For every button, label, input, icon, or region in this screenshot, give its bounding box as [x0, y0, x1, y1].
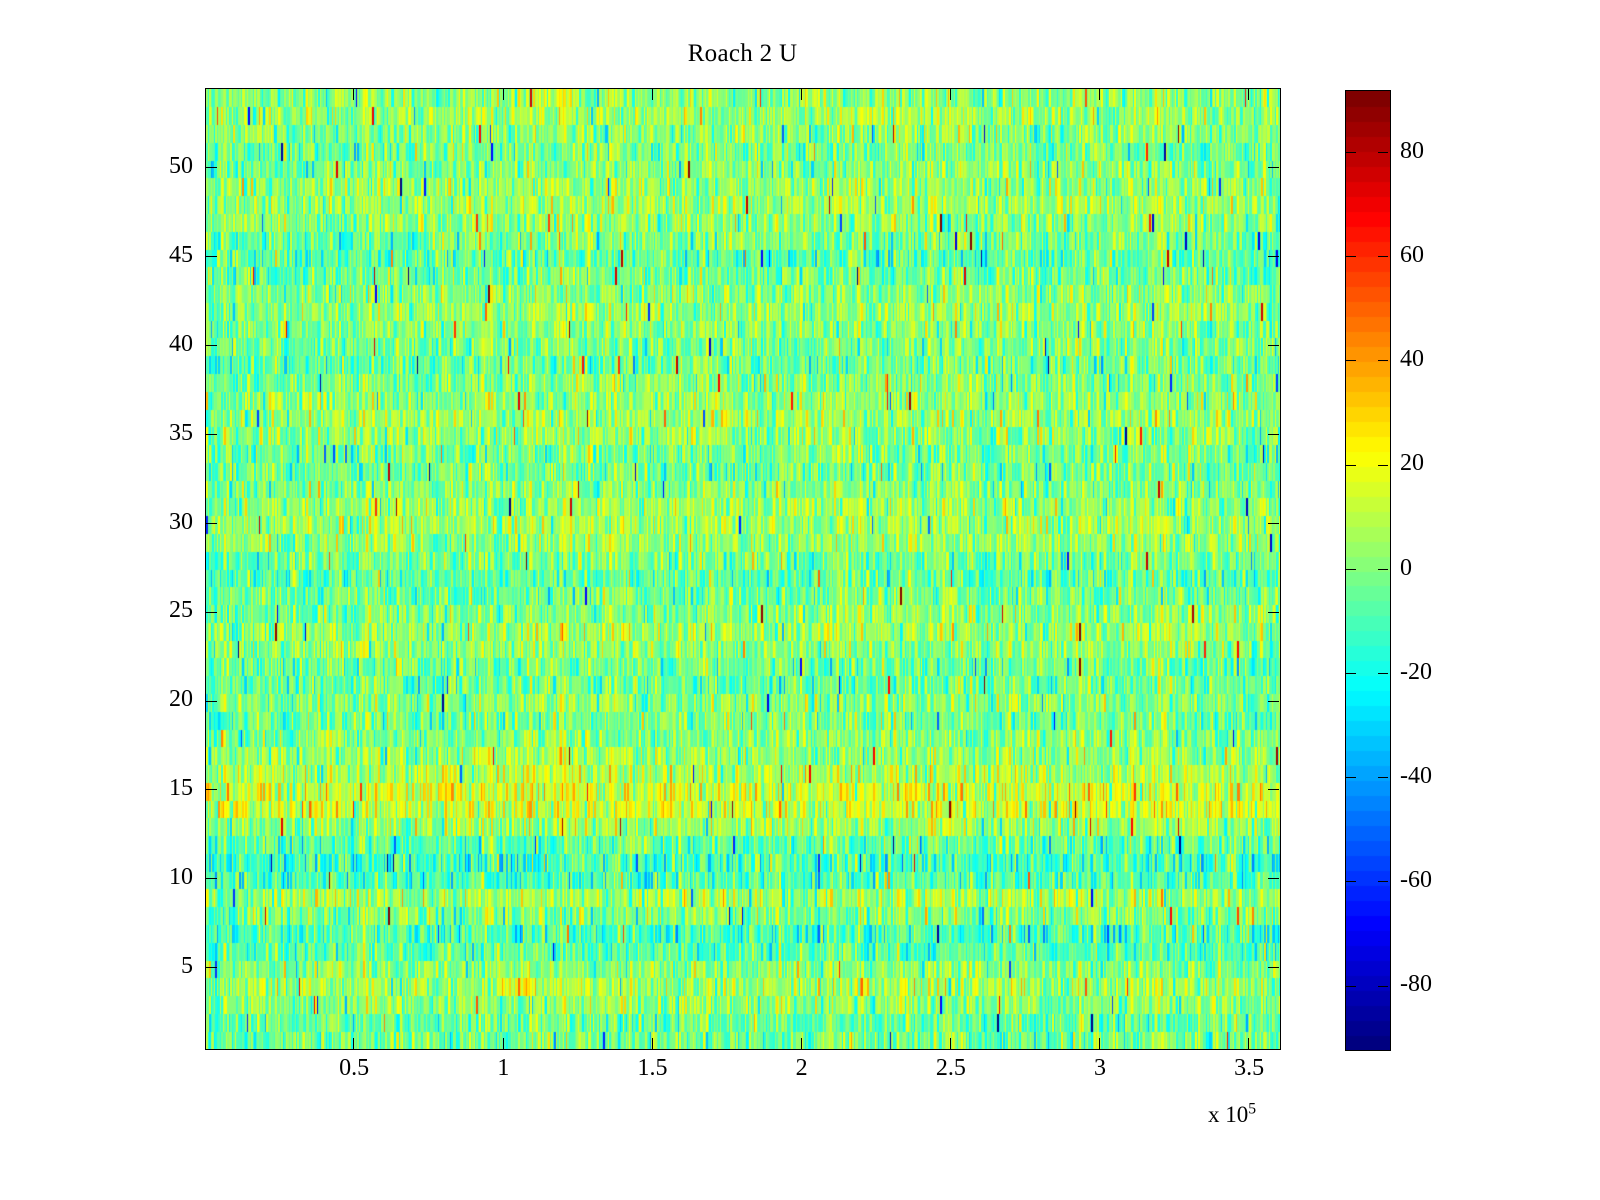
- colorbar-tick-mark: [1346, 569, 1356, 570]
- y-tick-mark: [1268, 167, 1279, 168]
- colorbar-tick-mark: [1378, 465, 1388, 466]
- x-tick-label: 2: [742, 1056, 862, 1080]
- y-tick-mark: [1268, 345, 1279, 346]
- colorbar-tick-mark: [1346, 777, 1356, 778]
- x-tick-mark: [1099, 1038, 1100, 1049]
- x-tick-mark: [801, 1038, 802, 1049]
- colorbar-tick-label: -40: [1400, 764, 1432, 788]
- x-tick-mark: [503, 1038, 504, 1049]
- colorbar-tick-mark: [1346, 360, 1356, 361]
- colorbar-tick-label: -20: [1400, 660, 1432, 684]
- x-tick-mark: [652, 1038, 653, 1049]
- y-tick-mark: [1268, 612, 1279, 613]
- y-tick-mark: [206, 434, 217, 435]
- colorbar-tick-mark: [1346, 256, 1356, 257]
- x-exponent-power: 5: [1248, 1100, 1256, 1117]
- x-tick-label: 3: [1040, 1056, 1160, 1080]
- y-tick-label: 15: [169, 776, 193, 800]
- x-tick-mark: [1248, 89, 1249, 100]
- x-tick-mark: [801, 89, 802, 100]
- matlab-figure: Roach 2 U 5101520253035404550 0.511.522.…: [0, 0, 1600, 1200]
- x-tick-label: 1.5: [593, 1056, 713, 1080]
- page-title: Roach 2 U: [0, 40, 1485, 68]
- y-tick-label: 35: [169, 421, 193, 445]
- colorbar-tick-label: -80: [1400, 972, 1432, 996]
- x-tick-label: 3.5: [1189, 1056, 1309, 1080]
- colorbar-tick-mark: [1378, 881, 1388, 882]
- y-tick-mark: [1268, 789, 1279, 790]
- y-tick-mark: [206, 256, 217, 257]
- heatmap-axes: [205, 88, 1281, 1050]
- y-tick-mark: [206, 878, 217, 879]
- y-tick-mark: [206, 167, 217, 168]
- y-tick-label: 10: [169, 865, 193, 889]
- y-tick-mark: [1268, 967, 1279, 968]
- y-tick-label: 45: [169, 243, 193, 267]
- y-tick-mark: [206, 789, 217, 790]
- y-tick-mark: [1268, 256, 1279, 257]
- x-exponent-base: x 10: [1208, 1102, 1248, 1127]
- x-tick-mark: [353, 1038, 354, 1049]
- colorbar-tick-mark: [1378, 569, 1388, 570]
- x-tick-mark: [353, 89, 354, 100]
- y-tick-label: 5: [181, 954, 193, 978]
- colorbar-tick-label: 40: [1400, 347, 1424, 371]
- y-tick-label: 40: [169, 332, 193, 356]
- colorbar: [1345, 90, 1391, 1051]
- y-tick-mark: [1268, 878, 1279, 879]
- colorbar-tick-label: 80: [1400, 139, 1424, 163]
- colorbar-tick-mark: [1346, 152, 1356, 153]
- colorbar-tick-mark: [1346, 465, 1356, 466]
- x-axis-exponent-label: x 105: [1208, 1102, 1256, 1128]
- x-tick-label: 0.5: [294, 1056, 414, 1080]
- colorbar-tick-label: 20: [1400, 451, 1424, 475]
- colorbar-tick-mark: [1346, 673, 1356, 674]
- colorbar-tick-label: 0: [1400, 556, 1412, 580]
- colorbar-tick-mark: [1378, 673, 1388, 674]
- colorbar-gradient: [1346, 91, 1390, 1050]
- colorbar-tick-mark: [1378, 777, 1388, 778]
- colorbar-tick-label: 60: [1400, 243, 1424, 267]
- x-tick-label: 2.5: [891, 1056, 1011, 1080]
- colorbar-tick-label: -60: [1400, 868, 1432, 892]
- heatmap-image: [206, 89, 1280, 1049]
- y-tick-label: 50: [169, 154, 193, 178]
- y-tick-mark: [206, 345, 217, 346]
- x-tick-mark: [1099, 89, 1100, 100]
- x-tick-label: 1: [443, 1056, 563, 1080]
- y-tick-mark: [206, 612, 217, 613]
- colorbar-tick-mark: [1378, 152, 1388, 153]
- y-tick-mark: [206, 967, 217, 968]
- y-tick-mark: [206, 701, 217, 702]
- x-tick-mark: [950, 1038, 951, 1049]
- colorbar-tick-mark: [1346, 881, 1356, 882]
- y-tick-mark: [1268, 434, 1279, 435]
- colorbar-tick-mark: [1378, 256, 1388, 257]
- x-tick-mark: [1248, 1038, 1249, 1049]
- x-tick-mark: [503, 89, 504, 100]
- x-tick-mark: [652, 89, 653, 100]
- y-tick-label: 30: [169, 510, 193, 534]
- y-tick-mark: [1268, 701, 1279, 702]
- colorbar-tick-mark: [1378, 986, 1388, 987]
- y-tick-label: 20: [169, 687, 193, 711]
- x-tick-mark: [950, 89, 951, 100]
- y-tick-mark: [1268, 523, 1279, 524]
- colorbar-tick-mark: [1346, 986, 1356, 987]
- y-tick-label: 25: [169, 598, 193, 622]
- colorbar-tick-mark: [1378, 360, 1388, 361]
- y-tick-mark: [206, 523, 217, 524]
